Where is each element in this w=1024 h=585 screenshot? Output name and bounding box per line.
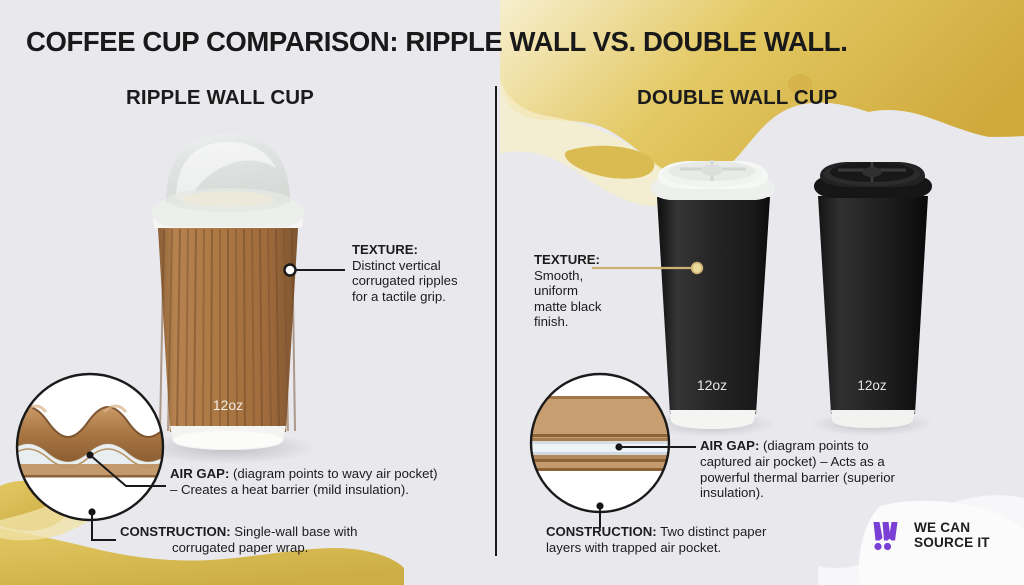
- brand-name-line2: SOURCE IT: [914, 535, 990, 550]
- brand-name-line1: WE CAN: [914, 520, 970, 535]
- callout-right-air-gap-line3: powerful thermal barrier (superior: [700, 470, 998, 486]
- callout-left-construction-line1: Single-wall base with: [234, 524, 357, 539]
- double-wall-back-cup-size-text: 12oz: [857, 378, 887, 393]
- callout-right-texture: TEXTURE: Smooth, uniform matte black fin…: [534, 252, 624, 330]
- callout-right-texture-line3: matte black: [534, 299, 624, 315]
- callout-left-texture-line2: corrugated ripples: [352, 273, 502, 289]
- left-air-gap-marker-dot: [86, 451, 93, 458]
- ripple-cup-size-text: 12oz: [213, 397, 243, 413]
- callout-right-air-gap: AIR GAP: (diagram points to captured air…: [700, 438, 998, 501]
- callout-right-texture-line4: finish.: [534, 314, 624, 330]
- column-divider: [495, 86, 497, 556]
- column-heading-ripple: RIPPLE WALL CUP: [126, 86, 314, 110]
- w-logo-icon: [872, 521, 906, 551]
- brand-logo[interactable]: WE CAN SOURCE IT: [872, 521, 1024, 551]
- callout-right-air-gap-label: AIR GAP:: [700, 438, 759, 453]
- callout-left-air-gap: AIR GAP: (diagram points to wavy air poc…: [170, 466, 492, 498]
- callout-left-air-gap-line2: – Creates a heat barrier (mild insulatio…: [170, 482, 492, 498]
- callout-left-construction-line2: corrugated paper wrap.: [120, 540, 480, 556]
- callout-left-texture-line1: Distinct vertical: [352, 258, 502, 274]
- right-construction-marker-dot: [596, 502, 603, 509]
- callout-right-construction-label: CONSTRUCTION:: [546, 524, 657, 539]
- callout-left-construction-label: CONSTRUCTION:: [120, 524, 231, 539]
- callout-right-construction: CONSTRUCTION: Two distinct paper layers …: [546, 524, 866, 556]
- right-air-gap-marker-dot: [615, 443, 622, 450]
- callout-left-texture: TEXTURE: Distinct vertical corrugated ri…: [352, 242, 502, 304]
- callout-right-air-gap-line4: insulation).: [700, 485, 998, 501]
- callout-left-air-gap-label: AIR GAP:: [170, 466, 229, 481]
- callout-left-air-gap-line1: (diagram points to wavy air pocket): [233, 466, 438, 481]
- column-heading-double: DOUBLE WALL CUP: [637, 86, 837, 110]
- callout-right-texture-label: TEXTURE:: [534, 252, 600, 267]
- callout-left-texture-label: TEXTURE:: [352, 242, 418, 257]
- callout-right-construction-line2: layers with trapped air pocket.: [546, 540, 866, 556]
- double-wall-front-cup-size-text: 12oz: [697, 377, 727, 393]
- callout-left-texture-line3: for a tactile grip.: [352, 289, 502, 305]
- brand-name: WE CAN SOURCE IT: [914, 521, 1024, 550]
- callout-right-construction-line1: Two distinct paper: [660, 524, 766, 539]
- callout-right-air-gap-line2: captured air pocket) – Acts as a: [700, 454, 998, 470]
- callout-right-air-gap-line1: (diagram points to: [763, 438, 869, 453]
- callout-left-construction: CONSTRUCTION: Single-wall base with corr…: [120, 524, 480, 556]
- infographic-canvas: 12oz 12oz: [0, 0, 1024, 585]
- left-construction-marker-dot: [88, 508, 95, 515]
- callout-right-texture-line2: uniform: [534, 283, 624, 299]
- page-title: COFFEE CUP COMPARISON: RIPPLE WALL VS. D…: [26, 26, 847, 58]
- callout-right-texture-line1: Smooth,: [534, 268, 624, 284]
